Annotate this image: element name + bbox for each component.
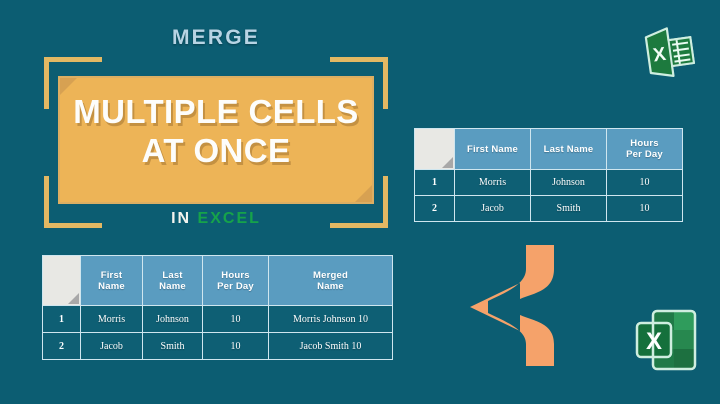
page-title: MULTIPLE CELLS AT ONCE <box>60 92 372 170</box>
title-block: MERGE MULTIPLE CELLS AT ONCE IN EXCEL <box>44 26 388 234</box>
row-number[interactable]: 1 <box>415 170 455 196</box>
title-banner: MULTIPLE CELLS AT ONCE <box>58 76 374 204</box>
cell-hours[interactable]: 10 <box>203 306 269 333</box>
table-row[interactable]: 1 Morris Johnson 10 Morris Johnson 10 <box>43 306 393 333</box>
select-all-corner-icon[interactable] <box>415 129 455 170</box>
row-number[interactable]: 2 <box>43 333 81 360</box>
excel-classic-icon: X <box>640 20 702 82</box>
table-row[interactable]: 2 Jacob Smith 10 <box>415 196 683 222</box>
table-row[interactable]: 2 Jacob Smith 10 Jacob Smith 10 <box>43 333 393 360</box>
cell-hours[interactable]: 10 <box>607 196 683 222</box>
subtitle-prefix: IN <box>171 210 191 227</box>
page-title-line-1: MULTIPLE CELLS <box>73 93 358 130</box>
cell-last-name[interactable]: Johnson <box>143 306 203 333</box>
subtitle-highlight: EXCEL <box>198 210 261 227</box>
page-title-line-2: AT ONCE <box>60 131 372 170</box>
column-header-hours-per-day[interactable]: Hours Per Day <box>203 256 269 306</box>
select-all-corner-icon[interactable] <box>43 256 81 306</box>
cell-hours[interactable]: 10 <box>203 333 269 360</box>
source-sheet[interactable]: First Name Last Name Hours Per Day 1 Mor… <box>414 128 683 222</box>
cell-first-name[interactable]: Morris <box>81 306 143 333</box>
cell-first-name[interactable]: Morris <box>455 170 531 196</box>
cell-last-name[interactable]: Smith <box>143 333 203 360</box>
banner-corner-notch-bottom-right <box>355 185 372 202</box>
row-number[interactable]: 2 <box>415 196 455 222</box>
eyebrow-text: MERGE <box>44 26 388 50</box>
column-header-hours-per-day[interactable]: Hours Per Day <box>607 129 683 170</box>
result-sheet[interactable]: First Name Last Name Hours Per Day Merge… <box>42 255 393 360</box>
cell-merged-name[interactable]: Jacob Smith 10 <box>269 333 393 360</box>
column-header-first-name[interactable]: First Name <box>455 129 531 170</box>
table-header-row: First Name Last Name Hours Per Day Merge… <box>43 256 393 306</box>
excel-modern-icon: X <box>629 303 703 377</box>
cell-first-name[interactable]: Jacob <box>455 196 531 222</box>
table-header-row: First Name Last Name Hours Per Day <box>415 129 683 170</box>
column-header-last-name[interactable]: Last Name <box>143 256 203 306</box>
column-header-last-name[interactable]: Last Name <box>531 129 607 170</box>
cell-last-name[interactable]: Smith <box>531 196 607 222</box>
cell-last-name[interactable]: Johnson <box>531 170 607 196</box>
subtitle: IN EXCEL <box>44 210 388 228</box>
cell-merged-name[interactable]: Morris Johnson 10 <box>269 306 393 333</box>
svg-text:X: X <box>646 328 662 355</box>
cell-first-name[interactable]: Jacob <box>81 333 143 360</box>
column-header-first-name[interactable]: First Name <box>81 256 143 306</box>
column-header-merged-name[interactable]: Merged Name <box>269 256 393 306</box>
table-row[interactable]: 1 Morris Johnson 10 <box>415 170 683 196</box>
merge-arrow-icon <box>408 243 558 368</box>
cell-hours[interactable]: 10 <box>607 170 683 196</box>
row-number[interactable]: 1 <box>43 306 81 333</box>
